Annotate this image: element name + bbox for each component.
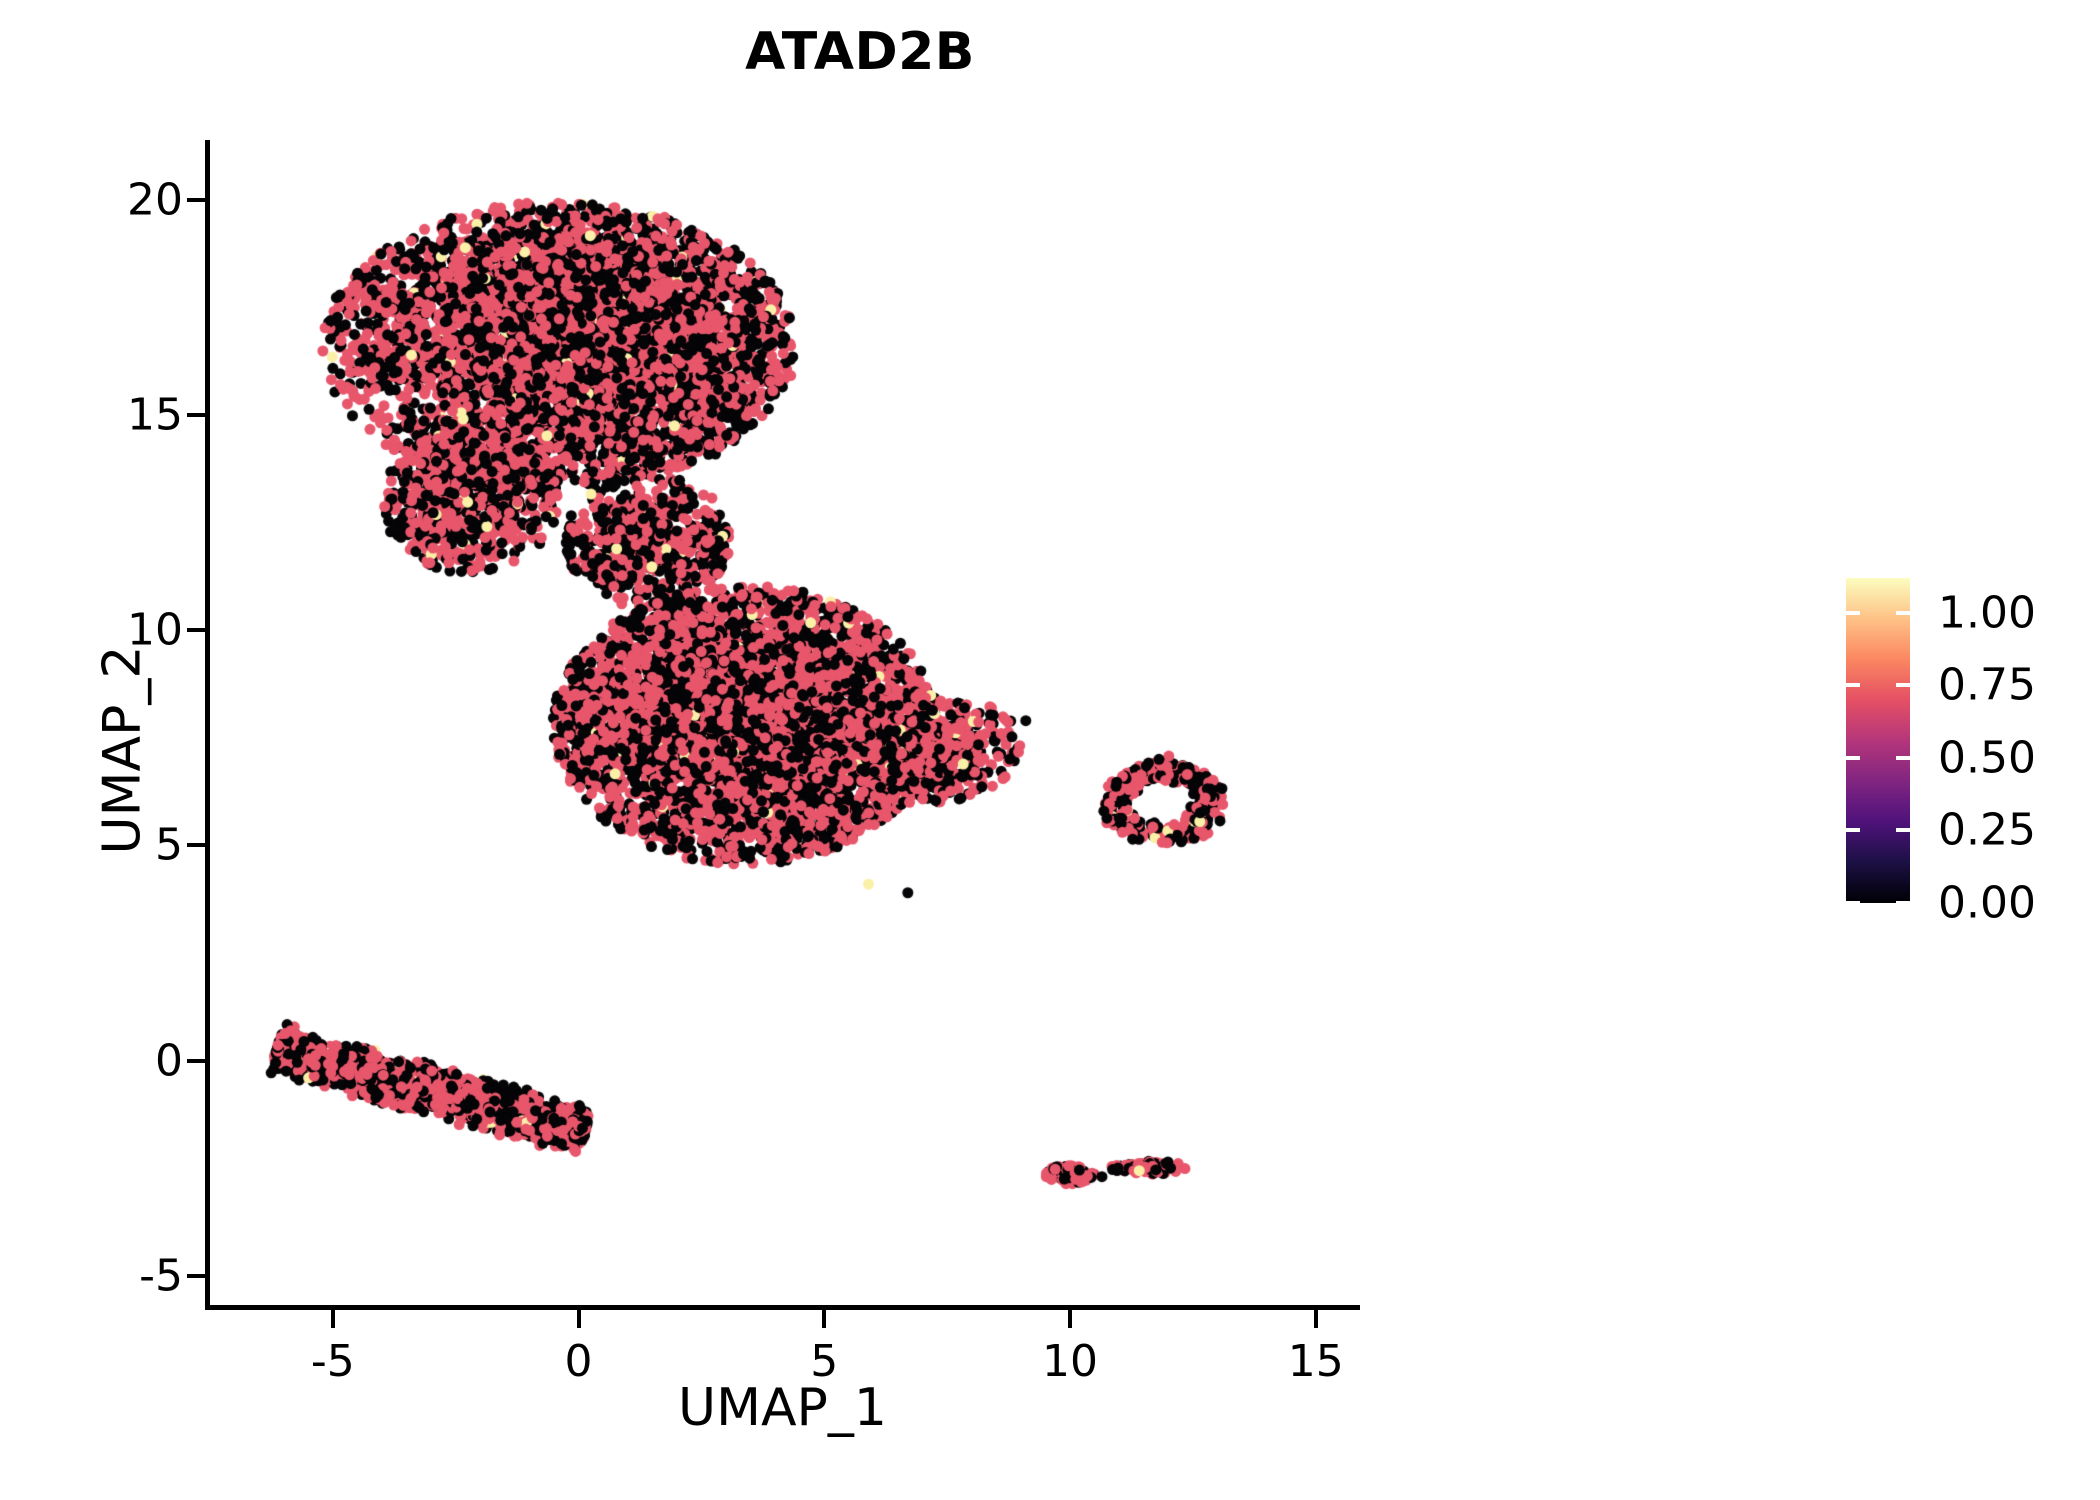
y-tick-mark [187,1059,205,1063]
colorbar-tick-label: 0.00 [1938,878,2036,929]
y-tick-label: 15 [127,390,183,441]
colorbar-tick-mark [1846,828,1860,832]
colorbar-tick-mark [1896,756,1910,760]
y-tick-mark [187,843,205,847]
y-tick-label: -5 [139,1250,183,1301]
colorbar-tick-label: 0.25 [1938,805,2036,856]
y-axis-spine [205,140,210,1310]
y-tick-label: 5 [155,820,183,871]
colorbar-tick-mark [1896,611,1910,615]
x-axis-label: UMAP_1 [205,1378,1360,1438]
colorbar-tick-mark [1846,756,1860,760]
colorbar-tick-mark [1896,828,1910,832]
y-tick-mark [187,198,205,202]
y-axis-label: UMAP_2 [92,646,152,855]
umap-feature-plot: ATAD2B UMAP_2 20151050-5 -5051015 UMAP_1… [0,0,2100,1500]
y-tick-mark [187,628,205,632]
x-tick-mark [1314,1310,1318,1328]
x-tick-mark [577,1310,581,1328]
colorbar-tick-mark [1846,683,1860,687]
y-tick-mark [187,413,205,417]
x-tick-mark [331,1310,335,1328]
colorbar-gradient [1846,578,1910,903]
y-tick-label: 0 [155,1035,183,1086]
x-tick-mark [822,1310,826,1328]
colorbar-tick-mark [1846,611,1860,615]
colorbar-tick-mark [1896,683,1910,687]
scatter-points-canvas [205,140,1360,1310]
colorbar-tick-label: 0.75 [1938,660,2036,711]
page-title: ATAD2B [0,22,1720,82]
y-tick-label: 10 [127,605,183,656]
x-tick-mark [1068,1310,1072,1328]
colorbar-tick-label: 0.50 [1938,732,2036,783]
colorbar-tick-label: 1.00 [1938,587,2036,638]
plot-axes: 20151050-5 -5051015 [205,140,1360,1310]
x-axis-spine [205,1305,1360,1310]
colorbar-tick-mark [1846,901,1860,905]
y-tick-mark [187,1274,205,1278]
colorbar-legend: 1.000.750.500.250.00 [1846,578,2086,908]
colorbar-tick-mark [1896,901,1910,905]
y-tick-label: 20 [127,175,183,226]
